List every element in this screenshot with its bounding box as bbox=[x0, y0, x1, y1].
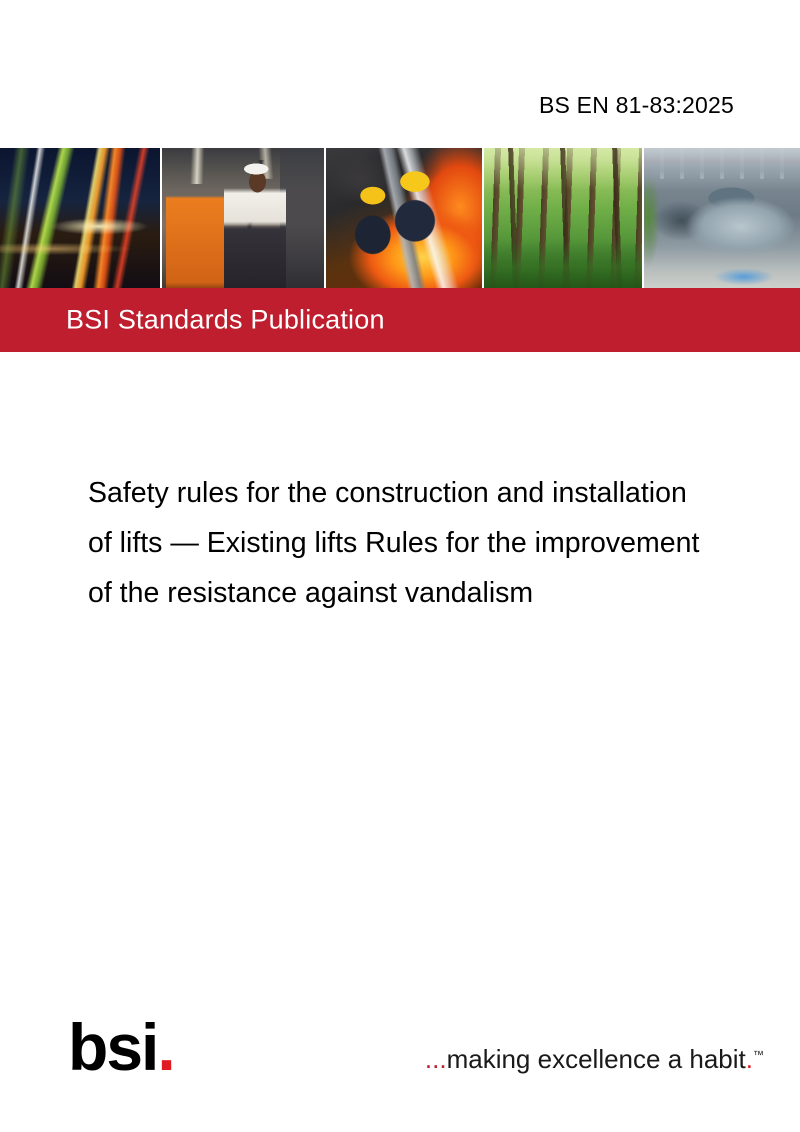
title-line-3: of the resistance against vandalism bbox=[88, 568, 800, 618]
trademark-icon: ™ bbox=[753, 1049, 764, 1061]
title-line-2: of lifts — Existing lifts Rules for the … bbox=[88, 518, 800, 568]
photo-pine-forest bbox=[482, 148, 642, 288]
photo-night-light-trails bbox=[0, 148, 160, 288]
bsi-tagline: ...making excellence a habit.™ bbox=[425, 1046, 764, 1072]
standard-number: BS EN 81-83:2025 bbox=[539, 92, 734, 119]
tagline-period: . bbox=[746, 1044, 753, 1074]
photo-warehouse-worker bbox=[160, 148, 324, 288]
title-line-1: Safety rules for the construction and in… bbox=[88, 468, 800, 518]
cover-photo-strip bbox=[0, 148, 800, 288]
tagline-text: making excellence a habit bbox=[447, 1044, 746, 1074]
page-title: Safety rules for the construction and in… bbox=[88, 468, 800, 618]
bsi-standards-banner: BSI Standards Publication bbox=[0, 288, 800, 352]
bsi-logo: bsi. bbox=[68, 1014, 174, 1080]
bsi-logo-dot: . bbox=[157, 1010, 173, 1084]
photo-car-production-line bbox=[642, 148, 800, 288]
document-cover-page: BS EN 81-83:2025 BSI Standards Publicati… bbox=[0, 0, 800, 1132]
tagline-leading-ellipsis: ... bbox=[425, 1044, 447, 1074]
banner-label: BSI Standards Publication bbox=[66, 305, 385, 336]
bsi-logo-text: bsi bbox=[68, 1010, 157, 1084]
photo-firefighters bbox=[324, 148, 482, 288]
